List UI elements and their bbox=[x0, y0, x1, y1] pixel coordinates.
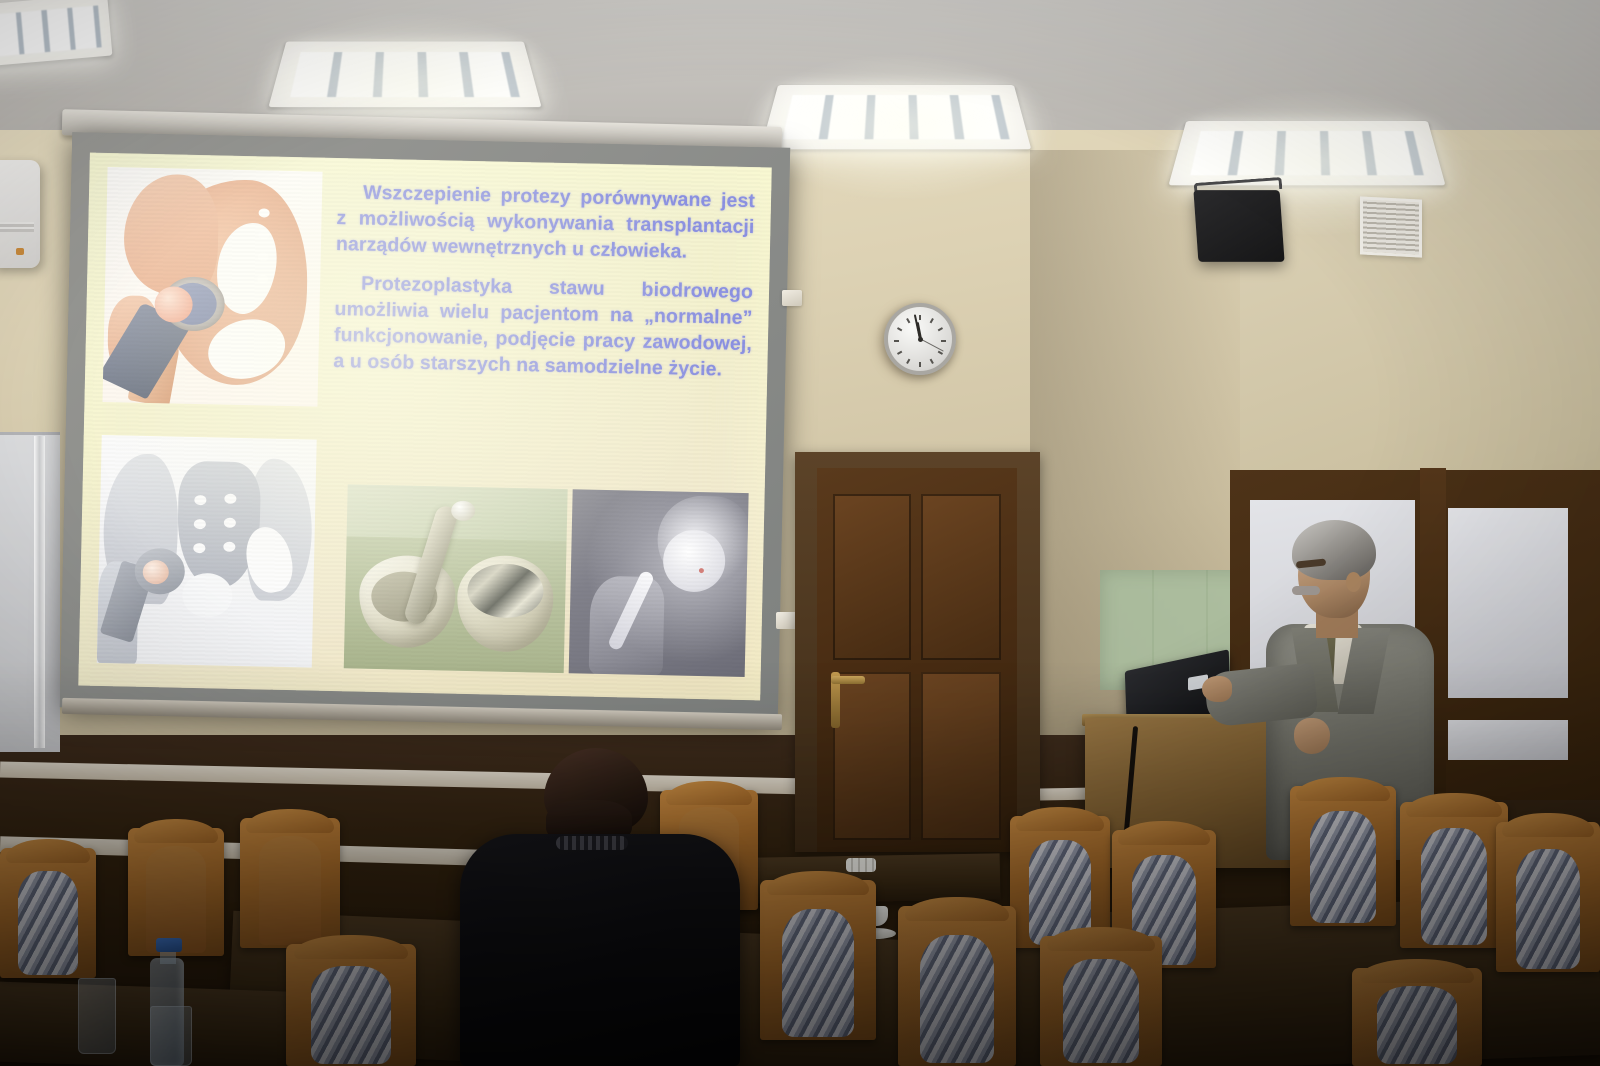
whiteboard-hinge bbox=[34, 436, 45, 748]
presentation-slide: Wszczepienie protezy porównywane jest z … bbox=[78, 153, 771, 701]
clock-center-cap bbox=[918, 337, 923, 342]
cabinet-panel-right-top bbox=[1448, 508, 1568, 698]
presenter-hand-on-laptop bbox=[1202, 676, 1232, 702]
wall-clock bbox=[884, 303, 956, 375]
oak-chair-8[interactable] bbox=[1400, 802, 1508, 948]
door-panel-tr bbox=[921, 494, 1001, 660]
ac-vent-icon bbox=[0, 222, 34, 232]
door-leaf[interactable] bbox=[817, 468, 1017, 852]
presenter-mustache bbox=[1292, 586, 1320, 595]
prosthesis-components-photo bbox=[344, 484, 568, 673]
oak-chair-13[interactable] bbox=[1352, 968, 1482, 1066]
oak-chair-12[interactable] bbox=[1040, 936, 1162, 1066]
hip-anatomy-illustration bbox=[102, 167, 322, 407]
light-switch-upper[interactable] bbox=[782, 290, 802, 306]
slide-paragraph-2: Protezoplastyka stawu biodrowego umożliw… bbox=[333, 271, 753, 384]
ceiling-light-3 bbox=[761, 85, 1032, 149]
drinking-glass-2 bbox=[150, 1006, 192, 1066]
presenter-hair bbox=[1292, 520, 1376, 580]
oak-chair-14[interactable] bbox=[286, 944, 416, 1066]
hip-xray bbox=[569, 489, 749, 677]
pelvis-grayscale-model bbox=[97, 435, 317, 668]
ashtray bbox=[846, 858, 876, 872]
door-handle[interactable] bbox=[831, 676, 865, 684]
lecture-hall-door[interactable] bbox=[795, 452, 1040, 852]
ac-indicator-led bbox=[16, 248, 24, 255]
drinking-glass-1 bbox=[78, 978, 116, 1054]
ceiling-light-4 bbox=[1169, 121, 1446, 185]
presenter-ear bbox=[1346, 572, 1361, 592]
door-panel-tl bbox=[833, 494, 911, 660]
oak-chair-9[interactable] bbox=[1496, 822, 1600, 972]
projection-screen: Wszczepienie protezy porównywane jest z … bbox=[60, 132, 790, 723]
attendee-necklace bbox=[556, 836, 628, 850]
oak-chair-7[interactable] bbox=[1290, 786, 1396, 926]
ventilation-grille bbox=[1360, 196, 1422, 257]
seated-attendee bbox=[444, 748, 774, 1066]
slide-text-block: Wszczepienie protezy porównywane jest z … bbox=[333, 180, 755, 384]
cabinet-panel-right-bottom bbox=[1448, 720, 1568, 760]
oak-chair-11[interactable] bbox=[898, 906, 1016, 1066]
oak-chair-4[interactable] bbox=[0, 848, 96, 978]
oak-chair-3[interactable] bbox=[128, 828, 224, 956]
ceiling-light-2 bbox=[268, 41, 541, 107]
door-panel-br bbox=[921, 672, 1001, 840]
slide-paragraph-1: Wszczepienie protezy porównywane jest z … bbox=[336, 180, 756, 267]
conference-table-foreground bbox=[0, 980, 291, 1066]
oak-chair-10[interactable] bbox=[760, 880, 876, 1040]
door-panel-bl bbox=[833, 672, 911, 840]
water-bottle-cap bbox=[156, 938, 182, 952]
oak-chair-2[interactable] bbox=[240, 818, 340, 948]
wall-speaker bbox=[1193, 190, 1284, 262]
folding-whiteboard bbox=[0, 432, 60, 752]
lecture-hall-photo: Wszczepienie protezy porównywane jest z … bbox=[0, 0, 1600, 1066]
air-conditioner-unit bbox=[0, 160, 40, 268]
presenter-hand-on-lectern bbox=[1294, 718, 1330, 754]
attendee-coat bbox=[460, 834, 740, 1066]
